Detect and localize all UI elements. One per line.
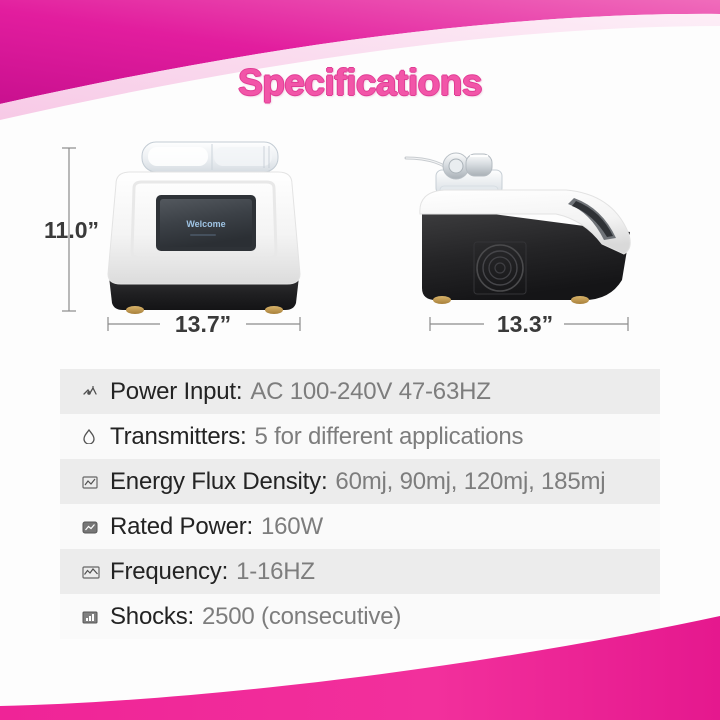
spec-label: Frequency: xyxy=(110,558,228,586)
power-gauge-icon xyxy=(82,518,104,536)
spec-row-shocks: Shocks: 2500 (consecutive) xyxy=(60,594,660,639)
spec-value: 60mj, 90mj, 120mj, 185mj xyxy=(335,468,605,496)
product-right-side-view: 13.3” xyxy=(388,128,708,353)
foot-right-b xyxy=(571,296,589,304)
foot-right-a xyxy=(433,296,451,304)
spec-value: 1-16HZ xyxy=(236,558,315,586)
spec-label: Power Input: xyxy=(110,378,242,406)
spec-row-frequency: Frequency: 1-16HZ xyxy=(60,549,660,594)
specifications-list: Power Input: AC 100-240V 47-63HZ Transmi… xyxy=(60,369,660,639)
spec-row-energy-flux-density: Energy Flux Density: 60mj, 90mj, 120mj, … xyxy=(60,459,660,504)
dimension-width-left-label: 13.7” xyxy=(175,311,231,337)
spec-row-transmitters: Transmitters: 5 for different applicatio… xyxy=(60,414,660,459)
screen-welcome-text: Welcome xyxy=(186,219,225,229)
power-plug-icon xyxy=(82,383,104,401)
spec-label: Energy Flux Density: xyxy=(110,468,327,496)
foot-right xyxy=(265,306,283,314)
transmitter-icon xyxy=(82,428,104,446)
spec-value: 2500 (consecutive) xyxy=(202,603,401,631)
product-left-front-view: 11.0” xyxy=(38,128,368,353)
spec-value: AC 100-240V 47-63HZ xyxy=(250,378,490,406)
shocks-bar-icon xyxy=(82,608,104,626)
specifications-page: Specifications xyxy=(0,0,720,720)
spec-row-rated-power: Rated Power: 160W xyxy=(60,504,660,549)
foot-left xyxy=(126,306,144,314)
product-photos: 11.0” xyxy=(0,128,720,353)
spec-label: Shocks: xyxy=(110,603,194,631)
energy-chart-icon xyxy=(82,473,104,491)
dimension-width-right-label: 13.3” xyxy=(497,311,553,337)
frequency-icon xyxy=(82,563,104,581)
spec-row-power-input: Power Input: AC 100-240V 47-63HZ xyxy=(60,369,660,414)
spec-value: 5 for different applications xyxy=(255,423,524,451)
spec-value: 160W xyxy=(261,513,323,541)
dimension-height-left-label: 11.0” xyxy=(44,217,99,243)
spec-label: Transmitters: xyxy=(110,423,247,451)
page-title: Specifications xyxy=(0,62,720,104)
device-screen-left: Welcome xyxy=(156,195,256,251)
spec-label: Rated Power: xyxy=(110,513,253,541)
